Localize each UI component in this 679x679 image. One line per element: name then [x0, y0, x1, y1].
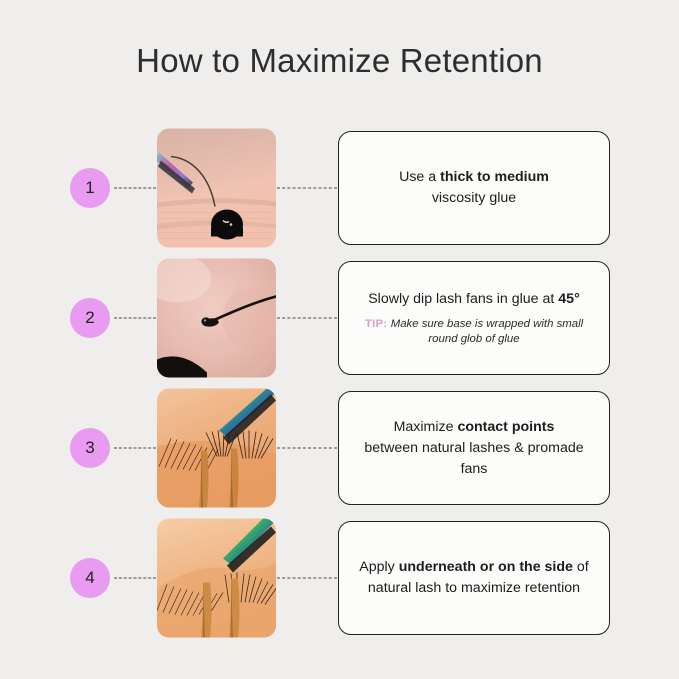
- step-tip-2: TIP: Make sure base is wrapped with smal…: [355, 317, 593, 348]
- step-card-text-1: Use a thick to medium viscosity glue: [399, 167, 549, 209]
- step-text-line2: between natural lashes & promade fans: [364, 440, 583, 477]
- step-text-bold: contact points: [457, 419, 554, 435]
- step-text-bold: thick to medium: [440, 169, 549, 185]
- step-text-bold: underneath or on the side: [399, 559, 573, 575]
- connector-photo-to-card-1: [277, 188, 337, 189]
- step-number-label: 4: [85, 568, 94, 588]
- step-number-label: 3: [85, 438, 94, 458]
- step-photo-3: [157, 389, 276, 508]
- step-number-badge-1: 1: [70, 168, 110, 208]
- step-photo-2: [157, 259, 276, 378]
- step-text-pre: Apply: [359, 559, 398, 575]
- step-row: 2: [0, 253, 679, 383]
- step-text-pre: Maximize: [394, 419, 458, 435]
- steps-list: 1: [0, 123, 679, 643]
- step-text-pre: Use a: [399, 169, 440, 185]
- step-card-text-3: Maximize contact points between natural …: [355, 417, 593, 480]
- step-card-text-4: Apply underneath or on the side of natur…: [355, 557, 593, 599]
- connector-photo-to-card-2: [277, 318, 337, 319]
- connector-badge-to-photo-3: [114, 448, 156, 449]
- connector-photo-to-card-4: [277, 578, 337, 579]
- step-number-badge-3: 3: [70, 428, 110, 468]
- infographic-root: How to Maximize Retention 1: [0, 0, 679, 679]
- connector-badge-to-photo-4: [114, 578, 156, 579]
- step-number-label: 2: [85, 308, 94, 328]
- connector-badge-to-photo-1: [114, 188, 156, 189]
- step-number-badge-2: 2: [70, 298, 110, 338]
- step-number-badge-4: 4: [70, 558, 110, 598]
- page-title: How to Maximize Retention: [0, 42, 679, 80]
- step-number-label: 1: [85, 178, 94, 198]
- step-card-2: Slowly dip lash fans in glue at 45° TIP:…: [338, 261, 610, 375]
- step-text-pre: Slowly dip lash fans in glue at: [368, 291, 558, 307]
- step-card-3: Maximize contact points between natural …: [338, 391, 610, 505]
- connector-photo-to-card-3: [277, 448, 337, 449]
- step-card-4: Apply underneath or on the side of natur…: [338, 521, 610, 635]
- step-row: 3: [0, 383, 679, 513]
- tip-label: TIP:: [365, 318, 388, 330]
- tip-text: Make sure base is wrapped with small rou…: [391, 318, 583, 346]
- step-card-1: Use a thick to medium viscosity glue: [338, 131, 610, 245]
- step-text-line2: viscosity glue: [432, 190, 516, 206]
- step-text-bold: 45°: [558, 291, 579, 307]
- step-card-text-2: Slowly dip lash fans in glue at 45°: [368, 289, 580, 310]
- step-row: 1: [0, 123, 679, 253]
- step-row: 4: [0, 513, 679, 643]
- connector-badge-to-photo-2: [114, 318, 156, 319]
- step-photo-1: [157, 129, 276, 248]
- step-photo-4: [157, 519, 276, 638]
